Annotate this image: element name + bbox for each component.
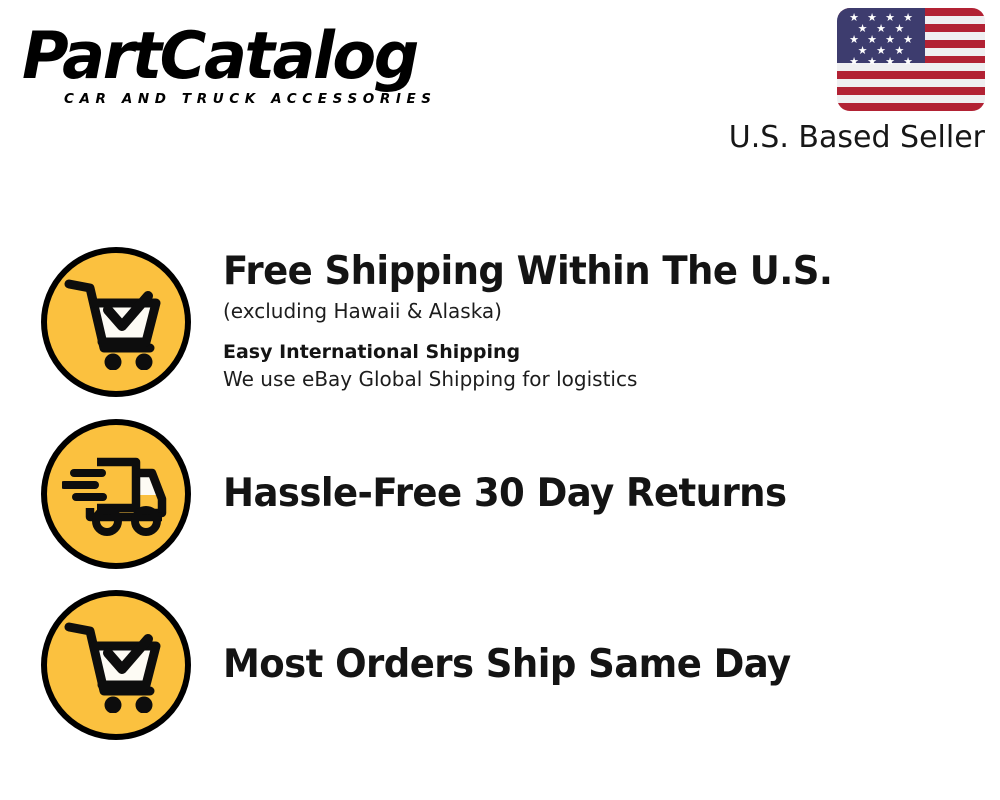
feature-sub-detail: We use eBay Global Shipping for logistic… [223, 366, 1000, 393]
shopping-cart-check-icon [41, 247, 191, 397]
us-based-seller-label: U.S. Based Seller [695, 120, 985, 155]
shopping-cart-check-icon [41, 590, 191, 740]
feature-text-block: Free Shipping Within The U.S. (excluding… [191, 251, 1000, 393]
feature-title: Free Shipping Within The U.S. [223, 251, 961, 293]
flag-stars: ★★★★ ★★★ ★★★★ ★★★ ★★★★ [837, 8, 925, 63]
feature-text-block: Most Orders Ship Same Day [191, 644, 1000, 686]
us-flag-icon: ★★★★ ★★★ ★★★★ ★★★ ★★★★ [837, 8, 985, 111]
feature-sub-heading: Easy International Shipping [223, 340, 1000, 365]
brand-wordmark: PartCatalog [22, 24, 483, 89]
brand-logo[interactable]: PartCatalog CAR AND TRUCK ACCESSORIES [22, 24, 492, 107]
page-header: PartCatalog CAR AND TRUCK ACCESSORIES [0, 0, 1000, 170]
feature-row: Most Orders Ship Same Day [0, 590, 1000, 740]
delivery-truck-icon [41, 419, 191, 569]
feature-text-block: Hassle-Free 30 Day Returns [191, 473, 1000, 515]
flag-canton: ★★★★ ★★★ ★★★★ ★★★ ★★★★ [837, 8, 925, 63]
feature-row: Hassle-Free 30 Day Returns [0, 419, 1000, 569]
us-based-seller-badge: ★★★★ ★★★ ★★★★ ★★★ ★★★★ U.S. Based Seller [695, 8, 985, 155]
feature-subtitle: (excluding Hawaii & Alaska) [223, 298, 1000, 326]
feature-title: Most Orders Ship Same Day [223, 644, 961, 686]
feature-row: Free Shipping Within The U.S. (excluding… [0, 247, 1000, 397]
feature-title: Hassle-Free 30 Day Returns [223, 473, 961, 515]
